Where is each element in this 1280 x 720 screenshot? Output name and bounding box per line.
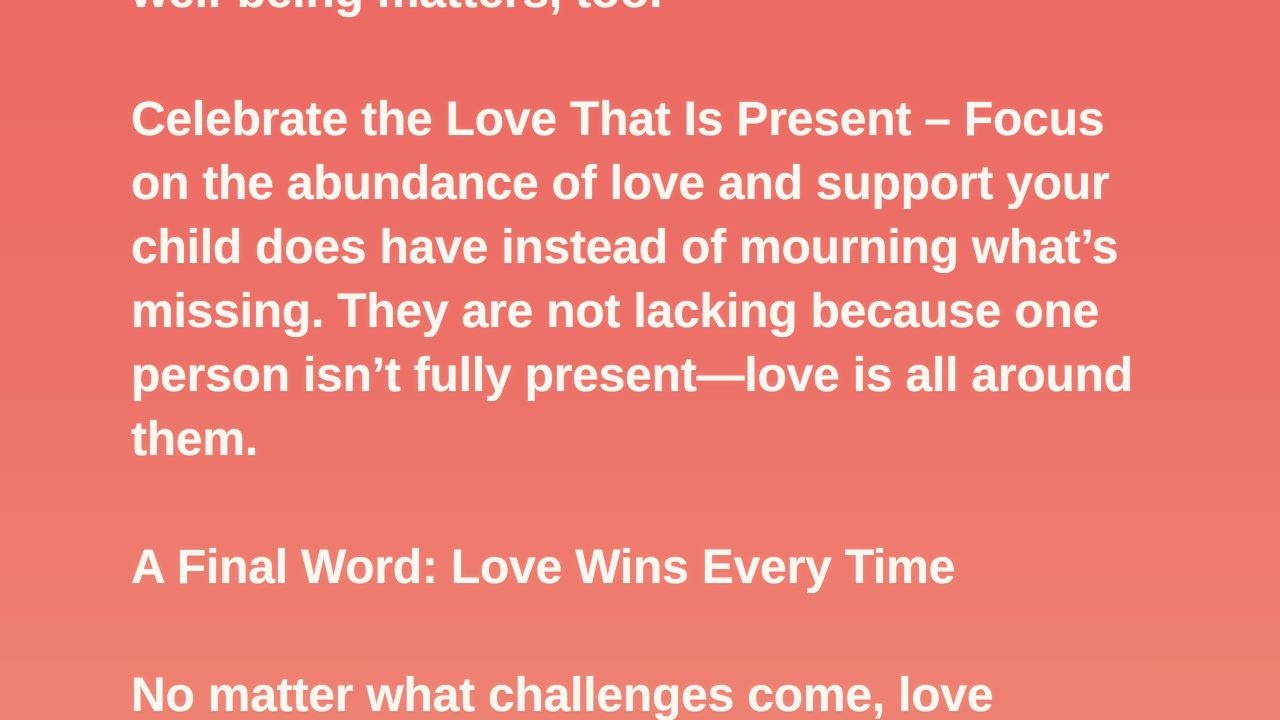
scrolling-text-block: well-being matters, too. Celebrate the L… <box>131 0 1141 720</box>
section-heading-celebrate: Celebrate the Love That Is Present – <box>131 93 951 146</box>
clipped-bottom-line: No matter what challenges come, love <box>131 664 1141 720</box>
section-heading-a-final-word: A Final Word: Love Wins Every Time <box>131 536 1141 600</box>
body-text-celebrate: Focus on the abundance of love and suppo… <box>131 93 1146 466</box>
body-paragraph-celebrate-the-love: Celebrate the Love That Is Present – Foc… <box>131 88 1141 472</box>
paragraph-gap <box>131 24 1141 88</box>
clipped-top-line: well-being matters, too. <box>131 0 1141 24</box>
text-slide: well-being matters, too. Celebrate the L… <box>0 0 1280 720</box>
paragraph-gap <box>131 600 1141 664</box>
paragraph-gap <box>131 472 1141 536</box>
